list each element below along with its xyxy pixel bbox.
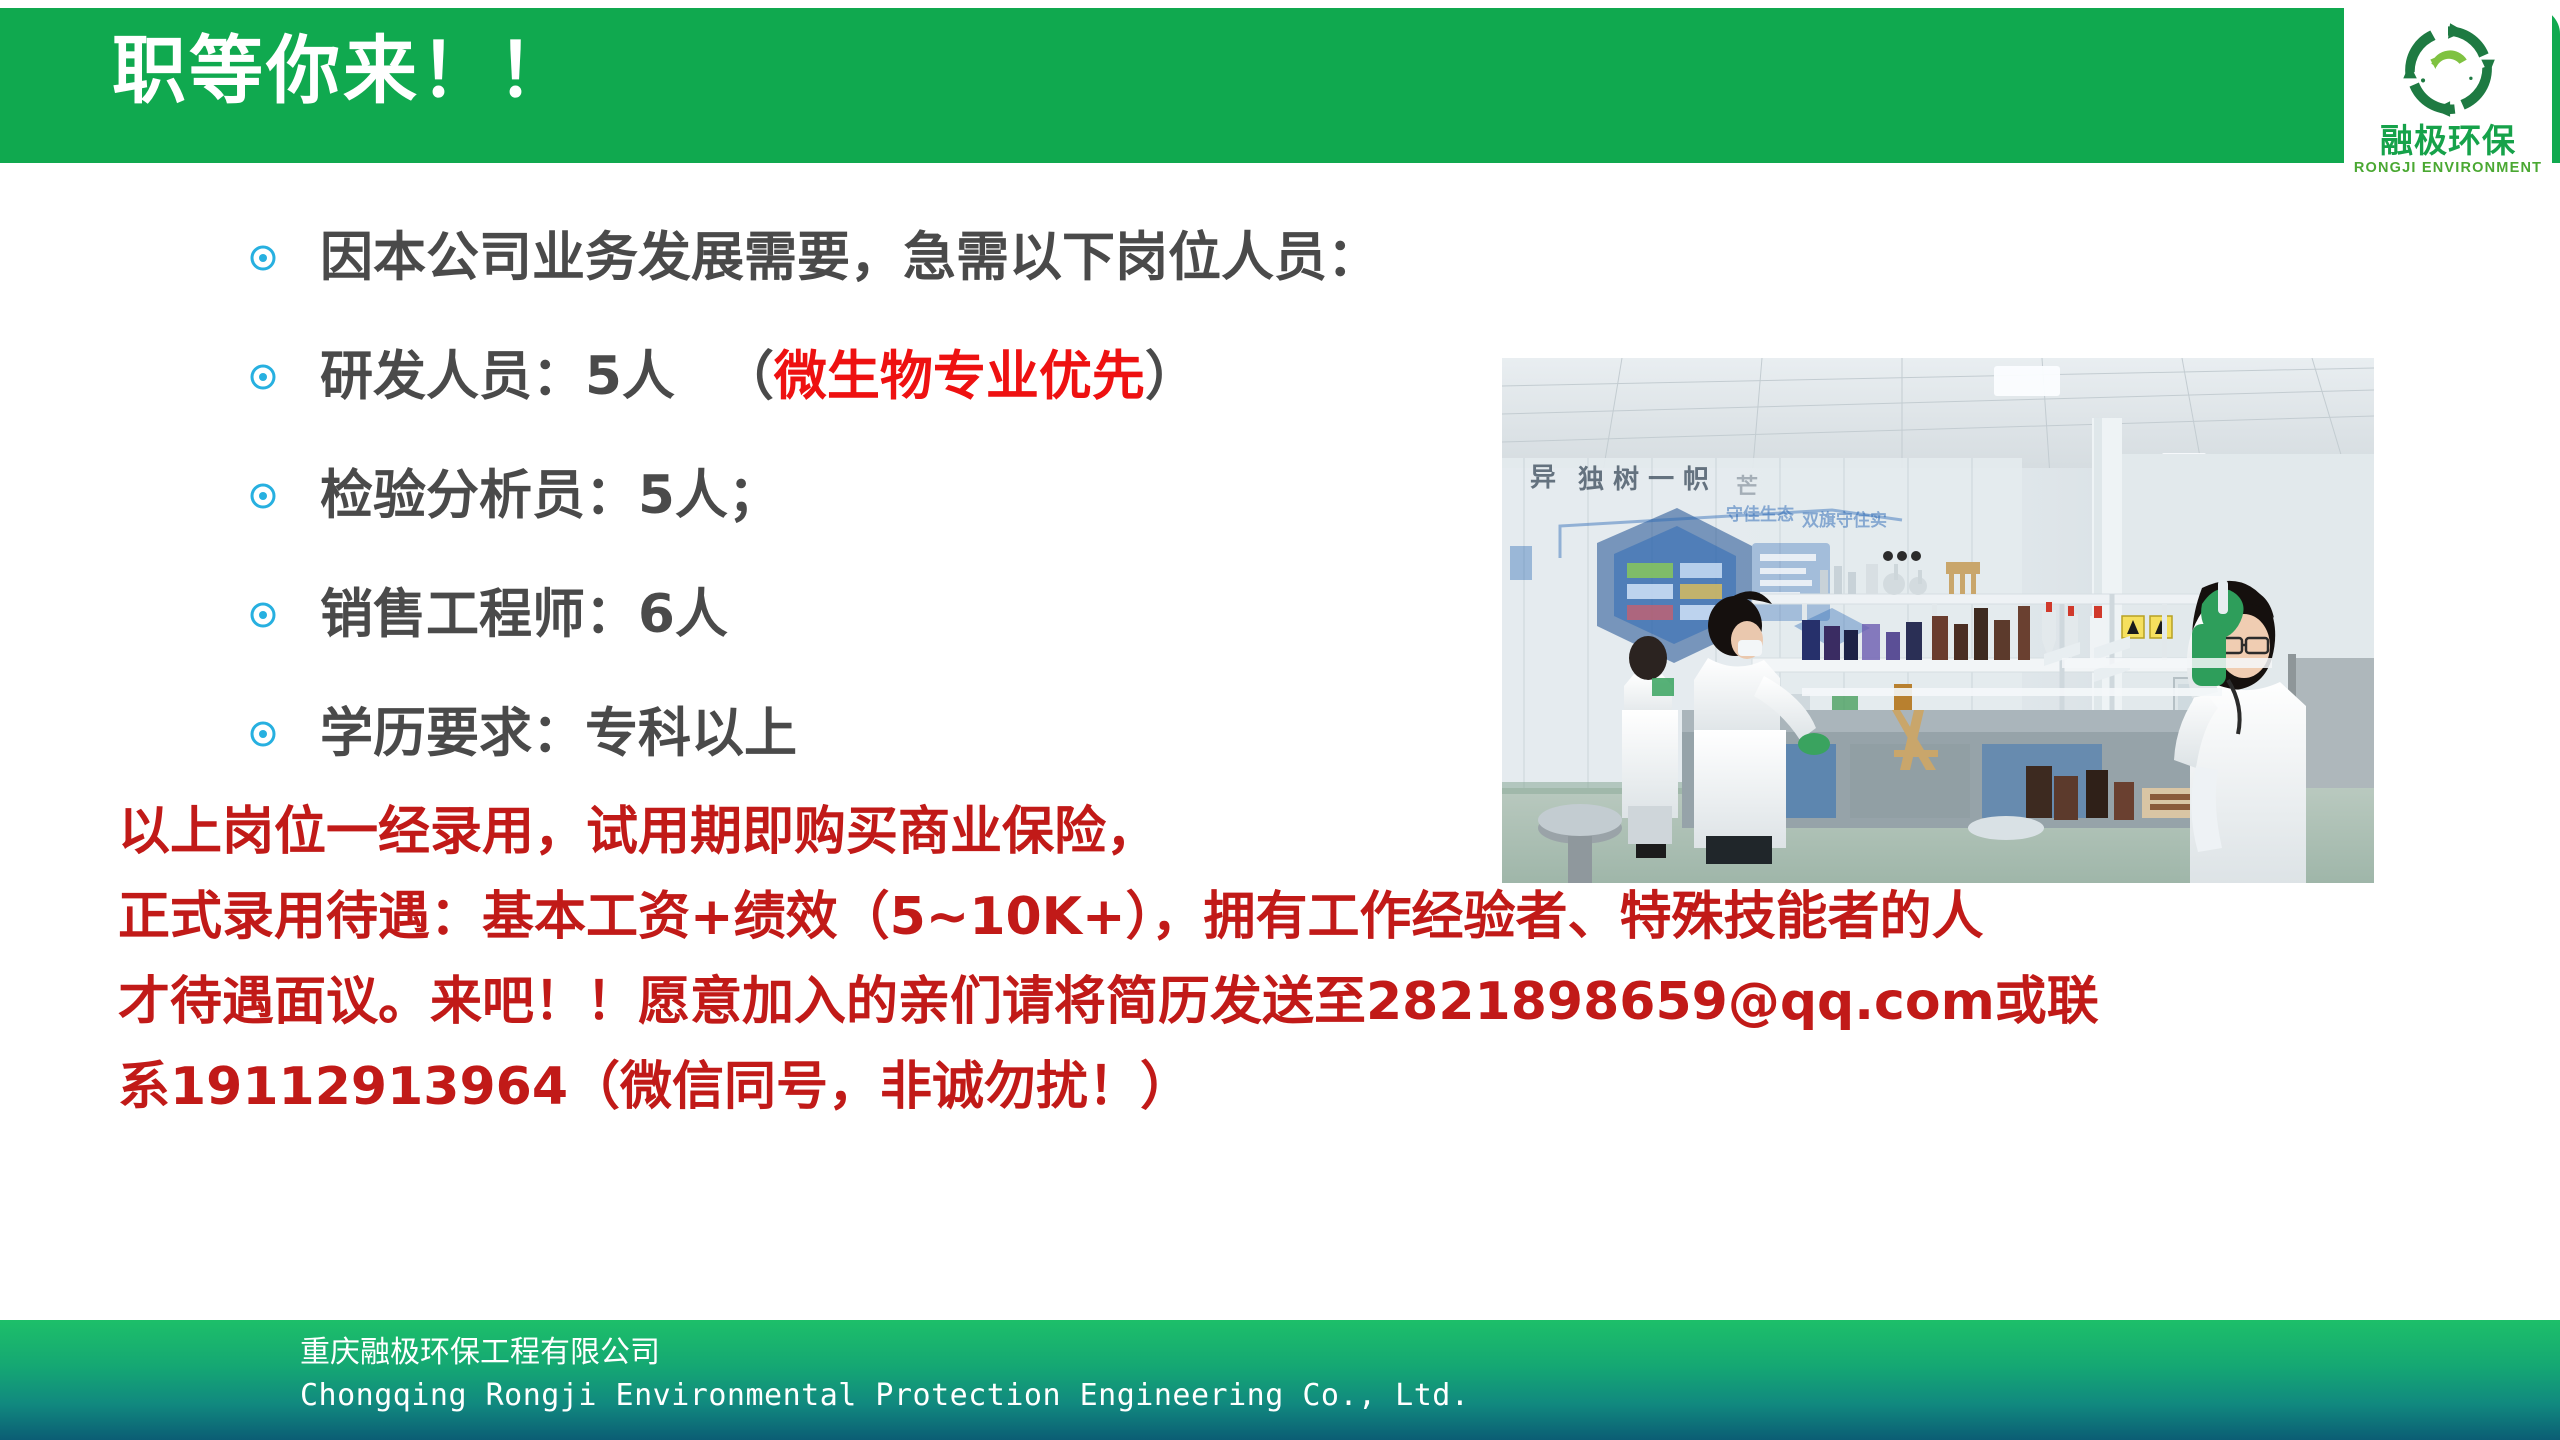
list-item-label: 因本公司业务发展需要，急需以下岗位人员： <box>320 231 1380 284</box>
bullet-circle-icon <box>248 719 278 749</box>
list-item-label: 学历要求：专科以上 <box>320 707 797 760</box>
notice-line: 以上岗位一经录用，试用期即购买商业保险， <box>118 790 2498 875</box>
footer-bar: 重庆融极环保工程有限公司 Chongqing Rongji Environmen… <box>0 1320 2560 1440</box>
job-note-rd: 微生物专业优先 <box>774 346 1145 407</box>
footer-company-block: 重庆融极环保工程有限公司 Chongqing Rongji Environmen… <box>300 1332 1469 1418</box>
svg-text:芒: 芒 <box>1736 474 1758 500</box>
svg-text:双旗守住实: 双旗守住实 <box>1802 510 1887 531</box>
bullet-circle-icon <box>248 243 278 273</box>
recycle-circle-icon <box>2396 18 2500 122</box>
footer-company-en: Chongqing Rongji Environmental Protectio… <box>300 1374 1469 1418</box>
job-bullet-list: 因本公司业务发展需要，急需以下岗位人员： 研发人员：5人（微生物专业优先） 检验… <box>248 198 1548 793</box>
page-title: 职等你来！！ <box>112 34 574 108</box>
list-item: 因本公司业务发展需要，急需以下岗位人员： <box>248 198 1548 317</box>
company-logo: 融极环保 RONGJI ENVIRONMENT <box>2344 8 2552 206</box>
svg-text:守佳生态: 守佳生态 <box>1726 504 1794 525</box>
logo-name-cn: 融极环保 <box>2380 124 2516 159</box>
footer-company-cn: 重庆融极环保工程有限公司 <box>300 1332 1469 1374</box>
list-item: 销售工程师：6人 <box>248 555 1548 674</box>
bullet-circle-icon <box>248 600 278 630</box>
list-item: 学历要求：专科以上 <box>248 674 1548 793</box>
paren-close: ） <box>1145 346 1198 407</box>
list-item: 研发人员：5人（微生物专业优先） <box>248 317 1548 436</box>
list-item-label: 研发人员：5人（微生物专业优先） <box>320 350 1198 403</box>
paren-open: （ <box>721 346 774 407</box>
logo-name-en: RONGJI ENVIRONMENT <box>2354 161 2542 176</box>
notice-line: 正式录用待遇：基本工资+绩效（5~10K+），拥有工作经验者、特殊技能者的人 <box>118 875 2498 960</box>
header-bar: 职等你来！！ <box>0 8 2560 163</box>
list-item-label: 检验分析员：5人； <box>320 469 781 522</box>
notice-line: 才待遇面议。来吧！！愿意加入的亲们请将简历发送至2821898659@qq.co… <box>118 960 2498 1045</box>
notice-line: 系19112913964（微信同号，非诚勿扰！） <box>118 1045 2498 1130</box>
bullet-circle-icon <box>248 481 278 511</box>
slide-root: 职等你来！！ 融极环保 RONGJI ENVI <box>0 0 2560 1440</box>
svg-text:独 树 一 帜: 独 树 一 帜 <box>1578 465 1709 495</box>
bullet-circle-icon <box>248 362 278 392</box>
job-title-rd: 研发人员：5人 <box>320 346 675 407</box>
svg-text:异: 异 <box>1530 463 1556 493</box>
recruitment-notice: 以上岗位一经录用，试用期即购买商业保险， 正式录用待遇：基本工资+绩效（5~10… <box>118 790 2498 1130</box>
list-item-label: 销售工程师：6人 <box>320 588 728 641</box>
list-item: 检验分析员：5人； <box>248 436 1548 555</box>
